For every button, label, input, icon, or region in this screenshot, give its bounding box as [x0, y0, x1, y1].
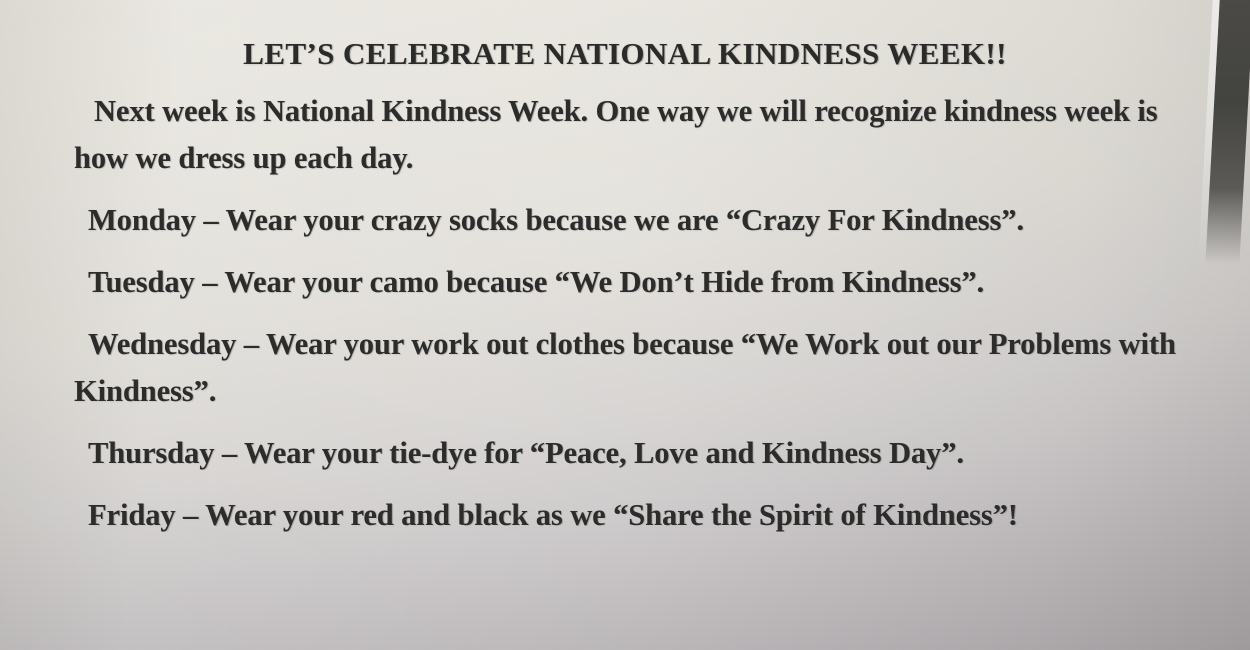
- day-entry-tuesday: Tuesday – Wear your camo because “We Don…: [74, 259, 1179, 306]
- day-entry-friday: Friday – Wear your red and black as we “…: [74, 492, 1179, 539]
- flyer-title: LET’S CELEBRATE NATIONAL KINDNESS WEEK!!: [0, 36, 1250, 72]
- day-entry-thursday: Thursday – Wear your tie-dye for “Peace,…: [74, 430, 1179, 477]
- flyer-body: Next week is National Kindness Week. One…: [74, 88, 1179, 539]
- intro-paragraph: Next week is National Kindness Week. One…: [74, 88, 1179, 182]
- day-entry-monday: Monday – Wear your crazy socks because w…: [74, 197, 1179, 244]
- day-entry-wednesday: Wednesday – Wear your work out clothes b…: [74, 321, 1179, 415]
- flyer-photograph: LET’S CELEBRATE NATIONAL KINDNESS WEEK!!…: [0, 0, 1250, 650]
